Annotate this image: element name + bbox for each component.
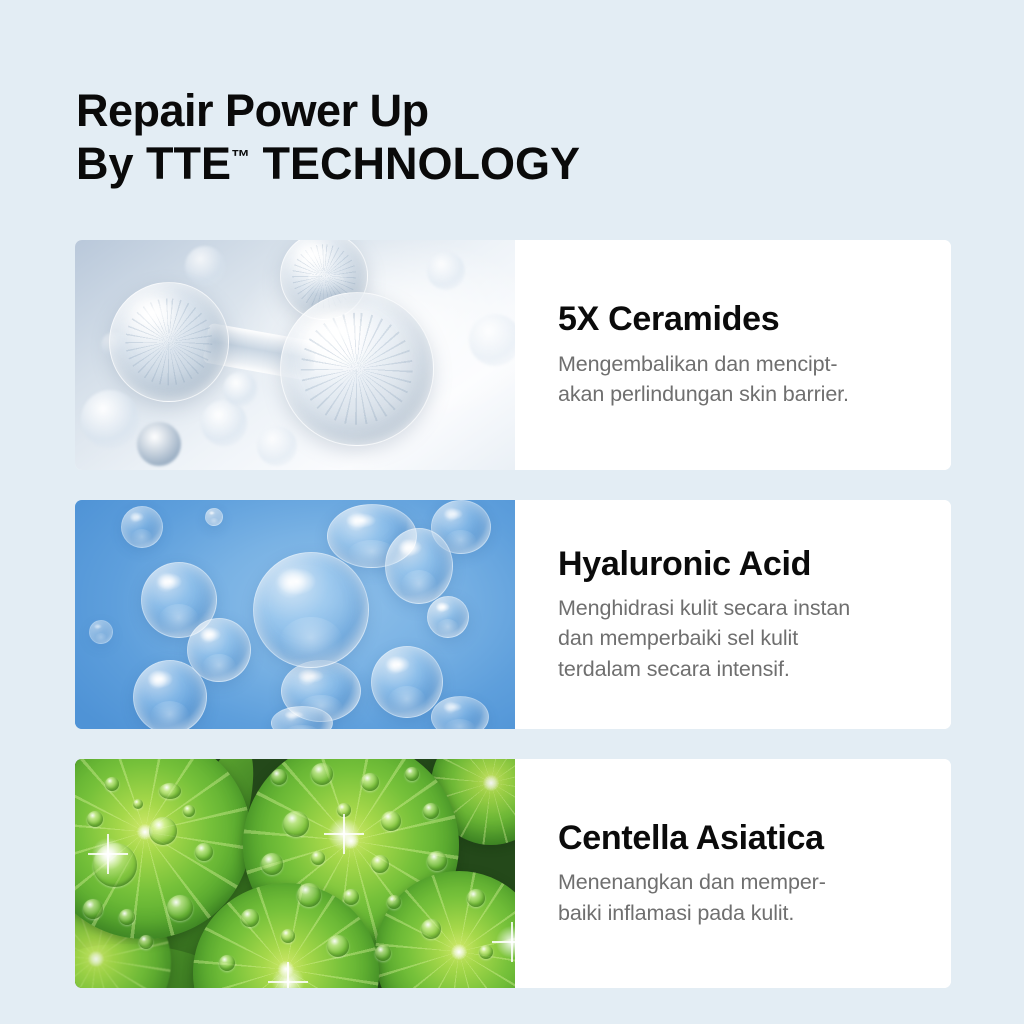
benefit-description: Mengembalikan dan mencipt- akan perlindu… <box>558 349 925 410</box>
benefit-title: 5X Ceramides <box>558 300 925 338</box>
crystal-molecule-photo <box>75 240 515 470</box>
headline-brand-text: By TTE <box>76 138 231 189</box>
water-bubble <box>427 596 469 638</box>
headline-line-1: Repair Power Up <box>76 84 956 137</box>
headline-line-2: By TTE™ TECHNOLOGY <box>76 137 956 190</box>
benefit-card-ceramides[interactable]: 5X Ceramides Mengembalikan dan mencipt- … <box>75 240 951 470</box>
water-bubble <box>431 696 489 729</box>
water-bubble <box>89 620 113 644</box>
bokeh-highlight <box>469 314 515 366</box>
trademark-symbol: ™ <box>231 147 250 168</box>
benefit-card-text: Centella Asiatica Menenangkan dan memper… <box>515 759 951 988</box>
benefit-card-hyaluronic-acid[interactable]: Hyaluronic Acid Menghidrasi kulit secara… <box>75 500 951 729</box>
sparkle-highlight <box>271 965 305 988</box>
water-bubble <box>121 506 163 548</box>
sparkle-highlight <box>495 925 515 959</box>
bokeh-highlight <box>81 390 139 448</box>
bokeh-highlight <box>257 426 297 466</box>
ingredient-benefits-poster: Repair Power Up By TTE™ TECHNOLOGY <box>0 0 1024 1024</box>
bokeh-highlight <box>185 246 225 286</box>
benefit-card-text: Hyaluronic Acid Menghidrasi kulit secara… <box>515 500 951 729</box>
benefit-card-list: 5X Ceramides Mengembalikan dan mencipt- … <box>75 240 951 988</box>
water-bubbles-photo <box>75 500 515 729</box>
sparkle-highlight <box>327 817 361 851</box>
benefit-description: Menghidrasi kulit secara instan dan memp… <box>558 593 925 685</box>
benefit-card-centella-asiatica[interactable]: Centella Asiatica Menenangkan dan memper… <box>75 759 951 988</box>
sparkle-highlight <box>91 837 125 871</box>
bokeh-highlight <box>223 372 257 406</box>
water-bubble <box>133 660 207 729</box>
water-bubble <box>385 528 453 604</box>
benefit-title: Centella Asiatica <box>558 819 925 857</box>
molecule-sphere <box>109 282 229 402</box>
water-bubble <box>253 552 369 668</box>
benefit-description: Menenangkan dan memper- baiki inflamasi … <box>558 867 925 928</box>
bokeh-highlight <box>427 252 465 290</box>
water-bubble <box>371 646 443 718</box>
benefit-title: Hyaluronic Acid <box>558 545 925 583</box>
centella-leaves-photo <box>75 759 515 988</box>
benefit-card-text: 5X Ceramides Mengembalikan dan mencipt- … <box>515 240 951 470</box>
bokeh-highlight <box>137 422 181 466</box>
bokeh-highlight <box>201 400 247 446</box>
molecule-sphere <box>280 292 434 446</box>
page-title: Repair Power Up By TTE™ TECHNOLOGY <box>76 84 956 190</box>
headline-technology-text: TECHNOLOGY <box>250 138 580 189</box>
water-bubble <box>205 508 223 526</box>
